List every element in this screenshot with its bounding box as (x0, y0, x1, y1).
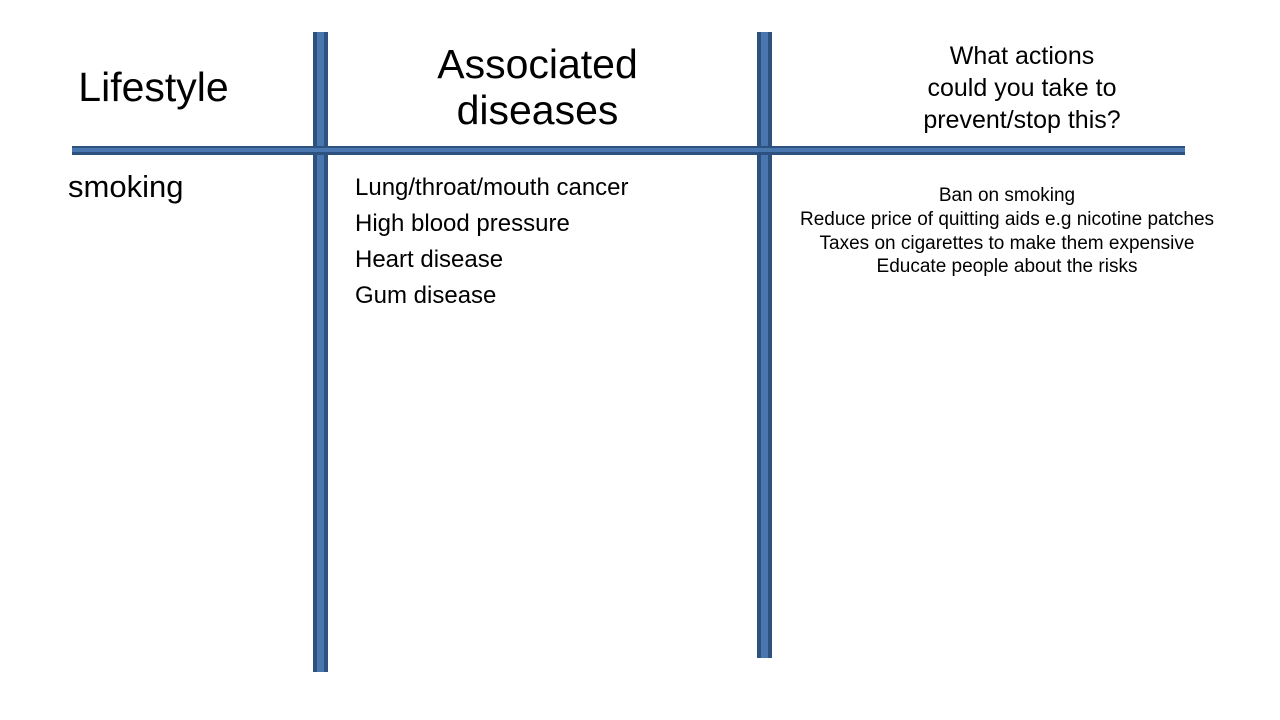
action-entry: Ban on smoking (772, 184, 1242, 208)
action-entry: Taxes on cigarettes to make them expensi… (772, 232, 1242, 256)
column-body-diseases: Lung/throat/mouth cancer High blood pres… (355, 170, 755, 314)
column-header-diseases-text: Associated diseases (437, 42, 648, 134)
lifestyle-entry: smoking (68, 168, 308, 205)
action-entry: Reduce price of quitting aids e.g nicoti… (772, 208, 1242, 232)
disease-entry: Gum disease (355, 278, 755, 314)
disease-entry: High blood pressure (355, 206, 755, 242)
column-header-lifestyle-text: Lifestyle (78, 65, 234, 111)
action-entry: Educate people about the risks (772, 255, 1242, 279)
vertical-divider-bar-2 (757, 32, 772, 658)
disease-entry: Lung/throat/mouth cancer (355, 170, 755, 206)
column-body-actions: Ban on smoking Reduce price of quitting … (772, 184, 1242, 279)
column-header-actions: What actions could you take to prevent/s… (772, 30, 1280, 146)
column-header-diseases: Associated diseases (328, 30, 757, 146)
slide-canvas: Lifestyle Associated diseases What actio… (0, 0, 1280, 720)
column-header-actions-text: What actions could you take to prevent/s… (919, 40, 1132, 136)
disease-entry: Heart disease (355, 242, 755, 278)
horizontal-divider-bar (72, 146, 1185, 155)
vertical-divider-bar-1 (313, 32, 328, 672)
column-header-lifestyle: Lifestyle (0, 30, 313, 146)
column-body-lifestyle: smoking (68, 168, 308, 205)
